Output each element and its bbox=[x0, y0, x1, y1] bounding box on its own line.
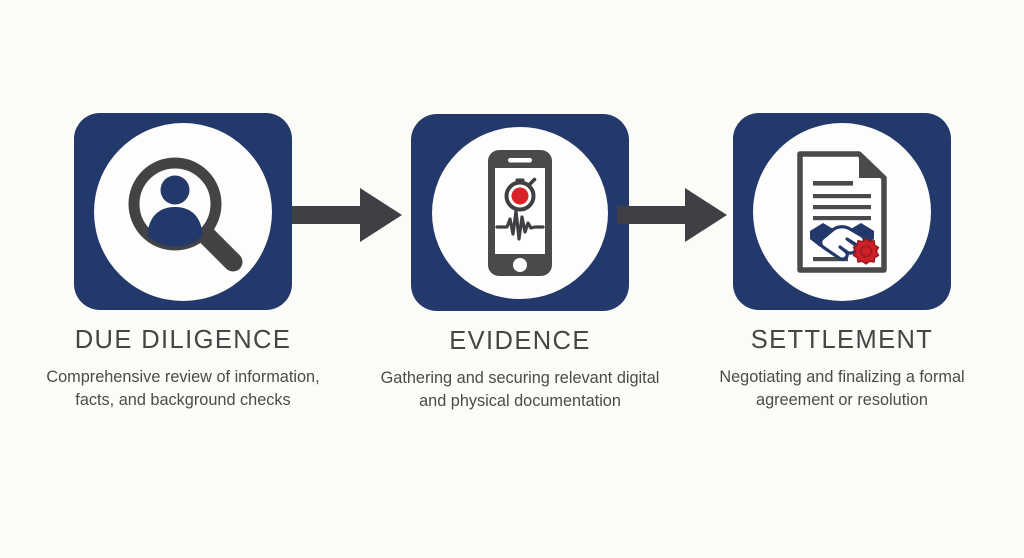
step-icon-card bbox=[411, 114, 629, 311]
step-description: Comprehensive review of information, fac… bbox=[33, 366, 333, 413]
process-step-settlement[interactable]: SETTLEMENT Negotiating and finalizing a … bbox=[733, 113, 951, 310]
process-step-evidence[interactable]: EVIDENCE Gathering and securing relevant… bbox=[411, 114, 629, 311]
step-title: DUE DILIGENCE bbox=[33, 326, 333, 354]
infographic-canvas: DUE DILIGENCE Comprehensive review of in… bbox=[0, 0, 1024, 558]
step-caption: SETTLEMENT Negotiating and finalizing a … bbox=[692, 326, 992, 413]
arrow-right-icon bbox=[292, 186, 404, 244]
step-title: SETTLEMENT bbox=[692, 326, 992, 354]
connector-arrow-2 bbox=[617, 186, 729, 249]
icon-disc bbox=[432, 127, 608, 299]
step-description: Negotiating and finalizing a formal agre… bbox=[692, 366, 992, 413]
icon-disc bbox=[753, 123, 931, 301]
arrow-right-icon bbox=[617, 186, 729, 244]
step-description: Gathering and securing relevant digital … bbox=[370, 367, 670, 414]
step-caption: EVIDENCE Gathering and securing relevant… bbox=[370, 327, 670, 414]
icon-disc bbox=[94, 123, 272, 301]
step-caption: DUE DILIGENCE Comprehensive review of in… bbox=[33, 326, 333, 413]
contract-handshake-seal-icon bbox=[790, 147, 894, 277]
step-icon-card bbox=[74, 113, 292, 310]
step-icon-card bbox=[733, 113, 951, 310]
step-title: EVIDENCE bbox=[370, 327, 670, 355]
smartphone-recording-icon bbox=[472, 147, 568, 279]
connector-arrow-1 bbox=[292, 186, 404, 249]
process-step-due-diligence[interactable]: DUE DILIGENCE Comprehensive review of in… bbox=[74, 113, 292, 310]
magnifier-person-icon bbox=[117, 146, 249, 278]
